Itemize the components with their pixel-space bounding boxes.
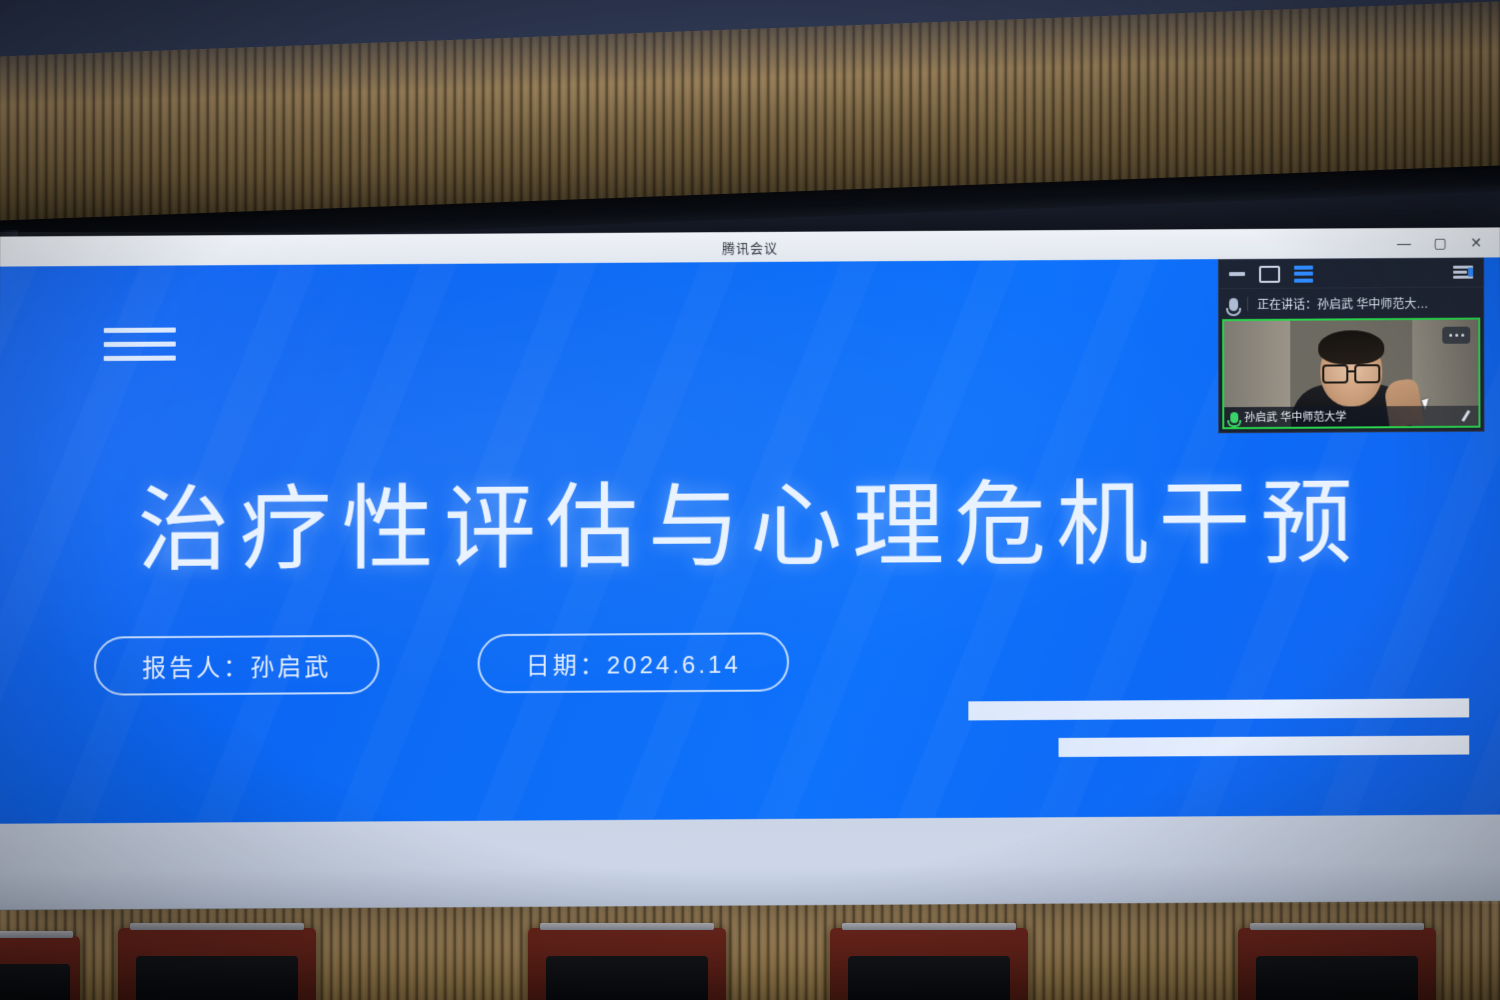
meeting-panel-toolbar bbox=[1219, 259, 1483, 289]
slide-meta-row: 报告人：孙启武 日期：2024.6.14 bbox=[94, 632, 789, 695]
auditorium-seat bbox=[0, 936, 80, 1000]
participant-glasses bbox=[1322, 364, 1380, 380]
speaking-status-label: 正在讲话：孙启武 华中师范大… bbox=[1257, 294, 1428, 312]
window-title: 腾讯会议 bbox=[722, 237, 778, 256]
more-options-icon[interactable] bbox=[1442, 327, 1470, 344]
maximize-button[interactable]: ▢ bbox=[1432, 236, 1448, 250]
mic-on-icon bbox=[1230, 412, 1238, 423]
divider bbox=[1247, 297, 1248, 311]
layout-stack-icon[interactable] bbox=[1294, 265, 1313, 282]
mic-icon bbox=[1229, 298, 1238, 311]
minimize-icon[interactable] bbox=[1229, 272, 1245, 276]
auditorium-seat bbox=[1238, 928, 1436, 1000]
close-button[interactable]: ✕ bbox=[1468, 236, 1484, 250]
annotate-pen-icon[interactable] bbox=[1459, 410, 1472, 423]
participant-name-bar: 孙启武 华中师范大学 bbox=[1224, 406, 1478, 428]
slide-bottom-area bbox=[0, 815, 1500, 911]
participant-hair bbox=[1318, 330, 1384, 364]
auditorium-seat bbox=[118, 928, 316, 1000]
hamburger-decoration-icon bbox=[104, 328, 176, 361]
window-controls: — ▢ ✕ bbox=[1396, 227, 1494, 258]
auditorium-seat bbox=[830, 928, 1028, 1000]
presenter-pill: 报告人：孙启武 bbox=[94, 635, 380, 696]
restore-window-icon[interactable] bbox=[1259, 265, 1280, 282]
speaking-status-bar: 正在讲话：孙启武 华中师范大… bbox=[1219, 287, 1483, 320]
collapse-panel-icon[interactable] bbox=[1453, 265, 1473, 281]
participant-video-tile[interactable]: 孙启武 华中师范大学 bbox=[1222, 318, 1480, 430]
meeting-video-panel: 正在讲话：孙启武 华中师范大… 孙启武 华中师 bbox=[1218, 258, 1484, 434]
auditorium-seat bbox=[528, 928, 726, 1000]
projection-screen: 腾讯会议 — ▢ ✕ 治疗性评估与心理危机干预 报告人：孙启武 日期：2024.… bbox=[0, 227, 1500, 910]
page-title: 治疗性评估与心理危机干预 bbox=[0, 448, 1500, 590]
slide-bar-decoration bbox=[968, 698, 1469, 775]
screenshot-stage: 腾讯会议 — ▢ ✕ 治疗性评估与心理危机干预 报告人：孙启武 日期：2024.… bbox=[0, 0, 1500, 1000]
date-pill: 日期：2024.6.14 bbox=[478, 632, 789, 693]
participant-name: 孙启武 华中师范大学 bbox=[1244, 408, 1346, 425]
minimize-button[interactable]: — bbox=[1396, 236, 1412, 250]
